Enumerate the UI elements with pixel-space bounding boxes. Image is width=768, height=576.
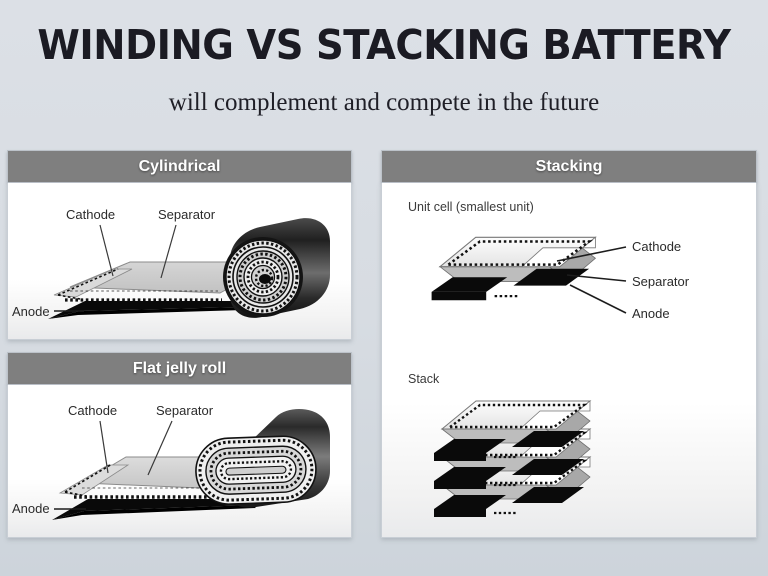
panel-cylindrical: Cylindrical (7, 150, 352, 340)
separator-label: Separator (632, 274, 690, 289)
panel-stacking-body: Unit cell (smallest unit) Cathode Separa… (381, 183, 757, 538)
page-title: WINDING VS STACKING BATTERY (23, 22, 745, 68)
panel-cylindrical-heading: Cylindrical (7, 150, 352, 183)
unit-cell-caption: Unit cell (smallest unit) (408, 200, 534, 214)
unit-cell-figure (432, 237, 596, 300)
panel-flat-jelly-roll-heading: Flat jelly roll (7, 352, 352, 385)
cylinder-spiral-face (223, 237, 303, 317)
stacking-diagram: Unit cell (smallest unit) Cathode Separa… (382, 183, 756, 537)
panel-flat-jelly-roll-body: Cathode Separator Anode (7, 385, 352, 538)
cathode-leader (100, 421, 108, 473)
cylindrical-diagram: Cathode Separator Anode (8, 183, 351, 339)
panel-stacking-heading: Stacking (381, 150, 757, 183)
flat-roll-spiral-face (195, 435, 317, 505)
cathode-label: Cathode (68, 403, 117, 418)
anode-label: Anode (12, 501, 50, 516)
cathode-leader (100, 225, 113, 276)
flat-jelly-roll-diagram: Cathode Separator Anode (8, 385, 351, 537)
slide-root: WINDING VS STACKING BATTERY will complem… (0, 0, 768, 576)
separator-label: Separator (158, 207, 216, 222)
cathode-label: Cathode (632, 239, 681, 254)
anode-label: Anode (632, 306, 670, 321)
panel-flat-jelly-roll: Flat jelly roll (7, 352, 352, 538)
page-subtitle: will complement and compete in the futur… (0, 88, 768, 118)
anode-label: Anode (12, 304, 50, 319)
panel-cylindrical-body: Cathode Separator Anode (7, 183, 352, 340)
stack-figure (434, 401, 590, 517)
separator-label: Separator (156, 403, 214, 418)
stack-caption: Stack (408, 372, 440, 386)
cathode-label: Cathode (66, 207, 115, 222)
panel-stacking: Stacking (381, 150, 757, 538)
anode-leader (570, 285, 626, 313)
